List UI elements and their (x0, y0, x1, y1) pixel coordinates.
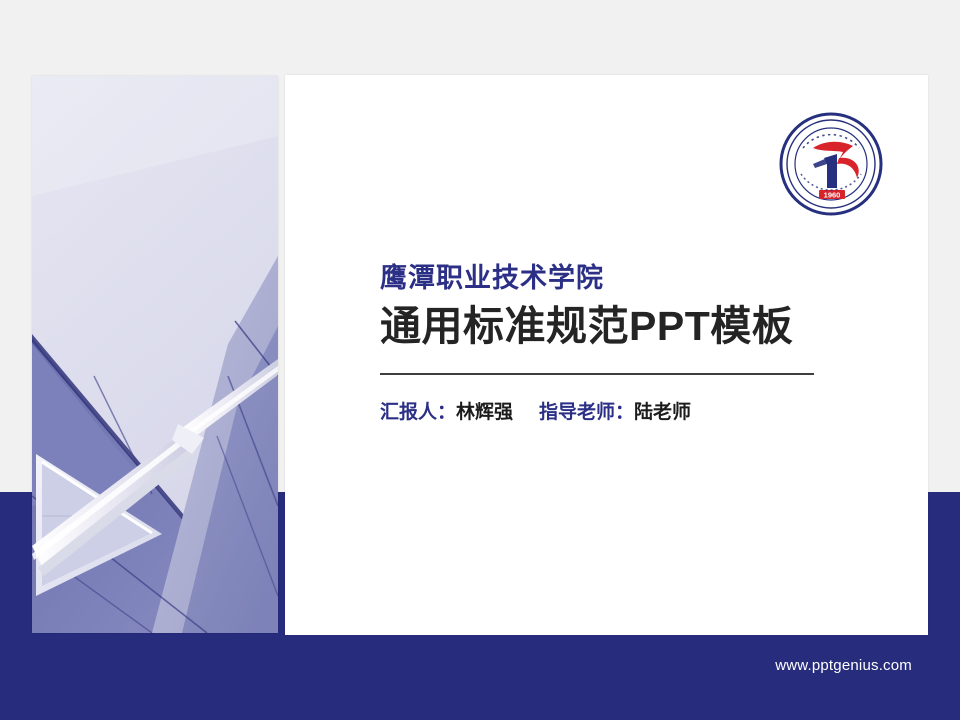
abstract-architecture-ceiling-photo (32, 76, 278, 633)
footer-website-url[interactable]: www.pptgenius.com (775, 657, 912, 674)
advisor-label: 指导老师： (539, 402, 634, 423)
title-divider (380, 373, 814, 375)
page-title: 通用标准规范PPT模板 (380, 302, 850, 351)
slide-root: 1960 鹰潭职业技术学院 通用标准规范PPT模板 汇报人：林辉强指导老师：陆老… (0, 0, 960, 720)
photo-panel (32, 76, 278, 633)
logo-year: 1960 (824, 191, 841, 200)
college-seal-icon: 1960 (779, 112, 883, 216)
college-logo: 1960 (779, 112, 883, 216)
presenter-name: 林辉强 (456, 402, 513, 423)
school-name: 鹰潭职业技术学院 (380, 262, 850, 296)
presenter-label: 汇报人： (380, 402, 456, 423)
advisor-name: 陆老师 (634, 402, 691, 423)
presenter-line: 汇报人：林辉强指导老师：陆老师 (380, 401, 850, 426)
title-text-block: 鹰潭职业技术学院 通用标准规范PPT模板 汇报人：林辉强指导老师：陆老师 (380, 262, 850, 426)
